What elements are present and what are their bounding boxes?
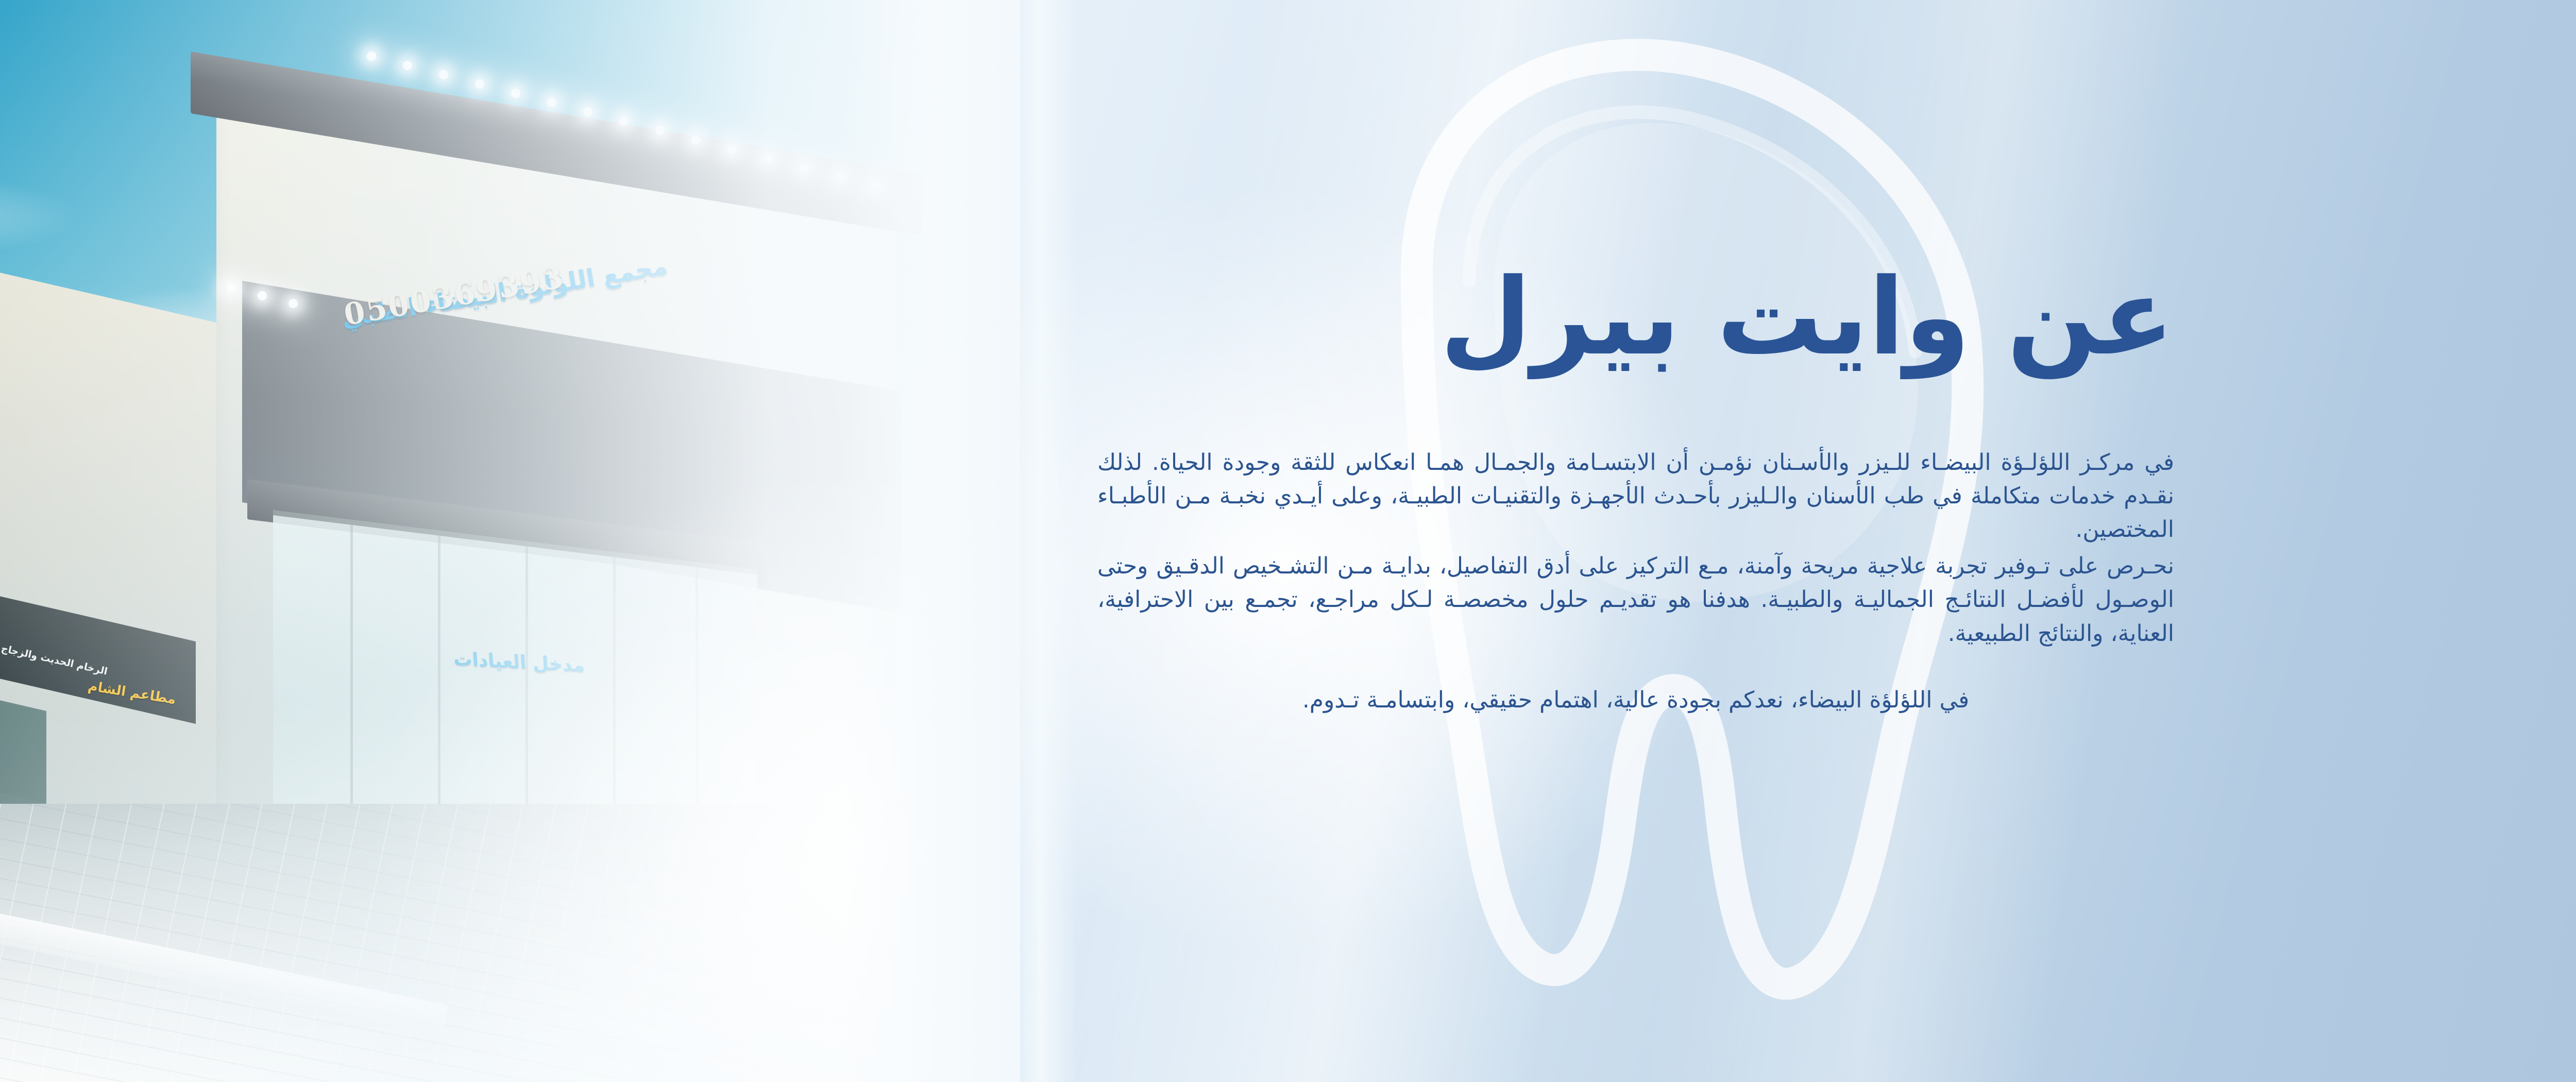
about-hero-banner: مجمع اللؤلؤة البيضاء الطبي 0500369393 مد…: [0, 0, 2576, 1082]
about-paragraph-1: في مركـز اللؤلـؤة البيضـاء للـيزر والأسـ…: [1097, 446, 2174, 546]
about-paragraph-3: في اللؤلؤة البيضاء، نعدكم بجودة عالية، ا…: [1097, 683, 2174, 717]
clinic-building-photo: مجمع اللؤلؤة البيضاء الطبي 0500369393 مد…: [0, 0, 1020, 1082]
page-title: عن وايت بيرل: [1041, 262, 2174, 373]
photo-right-fade: [845, 0, 1020, 1082]
about-body-text: في مركـز اللؤلـؤة البيضـاء للـيزر والأسـ…: [1097, 446, 2174, 717]
about-content-column: عن وايت بيرل في مركـز اللؤلـؤة البيضـاء …: [1041, 0, 2174, 1082]
about-paragraph-2: نحـرص على تـوفير تجربة علاجية مريحة وآمن…: [1097, 549, 2174, 650]
